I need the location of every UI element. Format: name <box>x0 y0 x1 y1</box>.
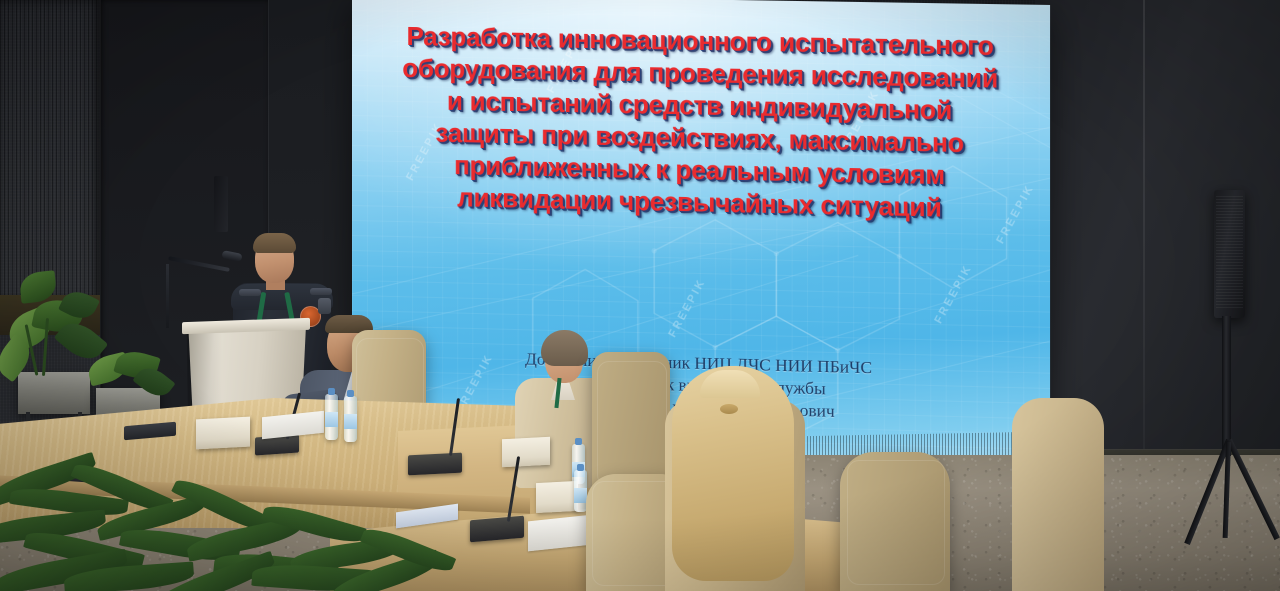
conference-chair <box>592 352 670 494</box>
name-placard <box>536 481 578 513</box>
planter-box <box>18 372 90 414</box>
water-bottle <box>344 396 357 442</box>
pa-speaker-pole <box>1222 316 1231 456</box>
foreground-woman-hair <box>672 366 794 581</box>
name-placard-text <box>536 481 578 493</box>
name-placard <box>196 417 250 450</box>
epaulette <box>310 288 332 295</box>
right-edge-person <box>1012 398 1104 591</box>
wall-panel-seam <box>1143 0 1145 462</box>
name-placard-text <box>502 437 550 450</box>
olive-wall-panel <box>0 0 100 300</box>
presenter-hair <box>253 233 296 253</box>
epaulette <box>239 289 261 296</box>
pa-speaker-grille <box>1216 196 1243 308</box>
bottle-label <box>344 414 357 429</box>
uniform-sleeve-patch <box>318 298 331 314</box>
bottle-label <box>574 488 587 503</box>
desk-microphone-base <box>470 516 524 543</box>
bottle-label <box>325 412 338 427</box>
conference-chair <box>840 452 950 591</box>
hair-tie <box>720 404 738 414</box>
slide-title: Разработка инновационного испытательного… <box>352 20 1050 227</box>
chair-stitching <box>847 460 946 584</box>
conference-hall-photo: FREEPIK FREEPIK FREEPIK FREEPIK FREEPIK … <box>0 0 1280 591</box>
name-placard <box>502 437 550 468</box>
seated-woman-hair <box>541 330 588 366</box>
small-wall-speaker <box>214 176 228 232</box>
water-bottle <box>325 394 338 440</box>
desk-microphone-base <box>408 453 462 476</box>
chair-stitching <box>597 361 668 488</box>
podium-mic-pole <box>166 264 169 328</box>
name-placard-text <box>196 417 250 430</box>
